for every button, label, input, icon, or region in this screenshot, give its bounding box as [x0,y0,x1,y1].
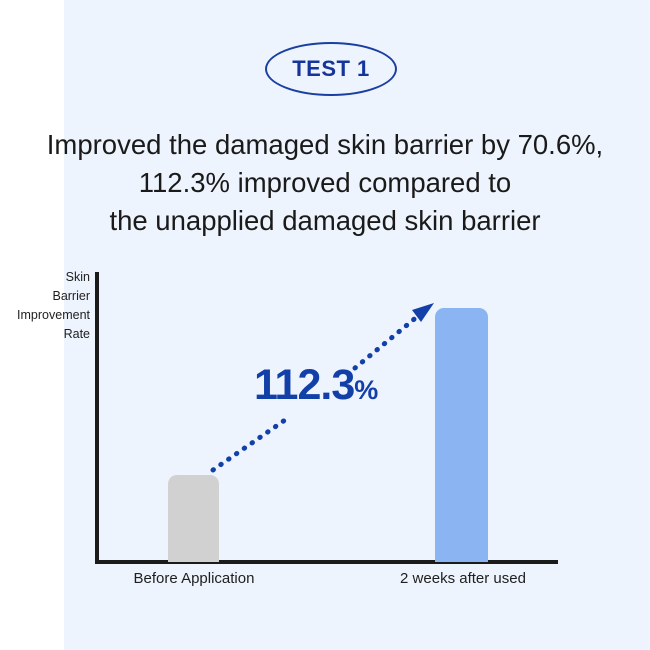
y-axis-label-line-2: Barrier [0,287,90,306]
x-tick-label-before: Before Application [98,570,290,587]
x-tick-label-after: 2 weeks after used [368,570,558,587]
y-axis-label-line-3: Improvement [0,306,90,325]
y-axis-line [95,272,99,564]
y-axis-label-line-4: Rate [0,325,90,344]
increase-callout-unit: % [354,375,378,405]
increase-callout-value: 112.3 [254,361,354,409]
y-axis-label-line-1: Skin [0,268,90,287]
page-root: TEST 1 Improved the damaged skin barrier… [0,0,650,650]
bar-two-weeks-after-used [435,308,488,562]
bar-chart: Skin Barrier Improvement Rate Before App… [0,0,650,650]
x-axis-line [95,560,558,564]
increase-callout: 112.3% [254,364,378,407]
y-axis-label: Skin Barrier Improvement Rate [0,268,90,344]
bar-before-application [168,475,219,562]
